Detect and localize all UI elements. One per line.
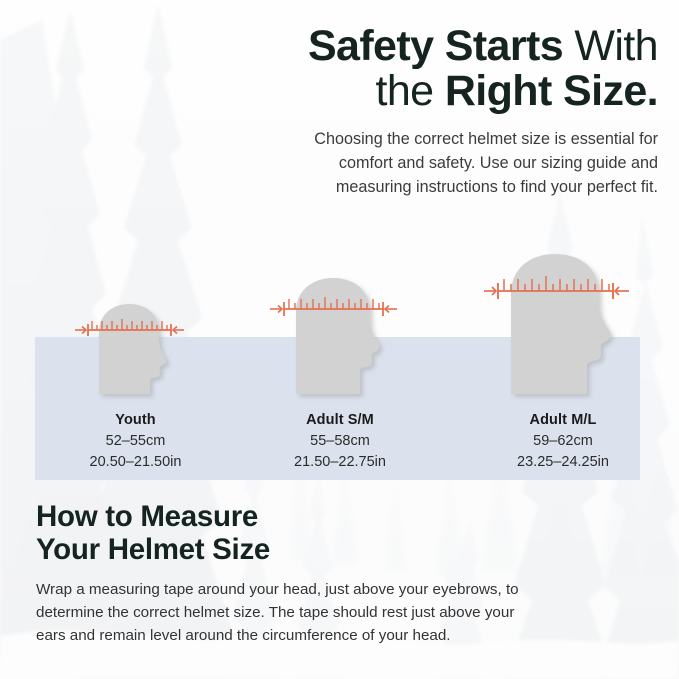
head-silhouette-icon xyxy=(99,304,166,394)
size-cm-youth: 52–55cm xyxy=(63,431,208,452)
arrow-left-pointing-icon xyxy=(173,327,184,334)
arrow-left-pointing-icon xyxy=(615,287,629,295)
head-silhouette-icon xyxy=(296,278,380,394)
howto-body-text: Wrap a measuring tape around your head, … xyxy=(36,578,531,647)
size-label-adult-ml: Adult M/L xyxy=(483,412,643,428)
arrow-right-pointing-icon xyxy=(75,327,86,334)
head-diagram-adult-ml xyxy=(483,252,643,394)
size-card-youth[interactable]: Youth 52–55cm 20.50–21.50in xyxy=(63,302,208,472)
head-diagram-adult-sm xyxy=(265,276,415,394)
howto-title: How to Measure Your Helmet Size xyxy=(36,500,456,566)
arrow-right-pointing-icon xyxy=(484,287,496,295)
size-label-youth: Youth xyxy=(63,412,208,428)
size-cm-adult-sm: 55–58cm xyxy=(265,431,415,452)
howto-title-line2: Your Helmet Size xyxy=(36,533,270,566)
arrow-right-pointing-icon xyxy=(270,306,282,313)
size-cm-adult-ml: 59–62cm xyxy=(483,431,643,452)
head-silhouette-icon xyxy=(511,254,611,394)
head-diagram-youth xyxy=(63,302,208,394)
size-label-adult-sm: Adult S/M xyxy=(265,412,415,428)
arrow-left-pointing-icon xyxy=(385,306,397,313)
size-inches-adult-ml: 23.25–24.25in xyxy=(483,452,643,473)
size-card-adult-sm[interactable]: Adult S/M 55–58cm 21.50–22.75in xyxy=(265,276,415,472)
size-card-adult-ml[interactable]: Adult M/L 59–62cm 23.25–24.25in xyxy=(483,252,643,472)
size-inches-adult-sm: 21.50–22.75in xyxy=(265,452,415,473)
size-inches-youth: 20.50–21.50in xyxy=(63,452,208,473)
howto-title-line1: How to Measure xyxy=(36,500,258,533)
